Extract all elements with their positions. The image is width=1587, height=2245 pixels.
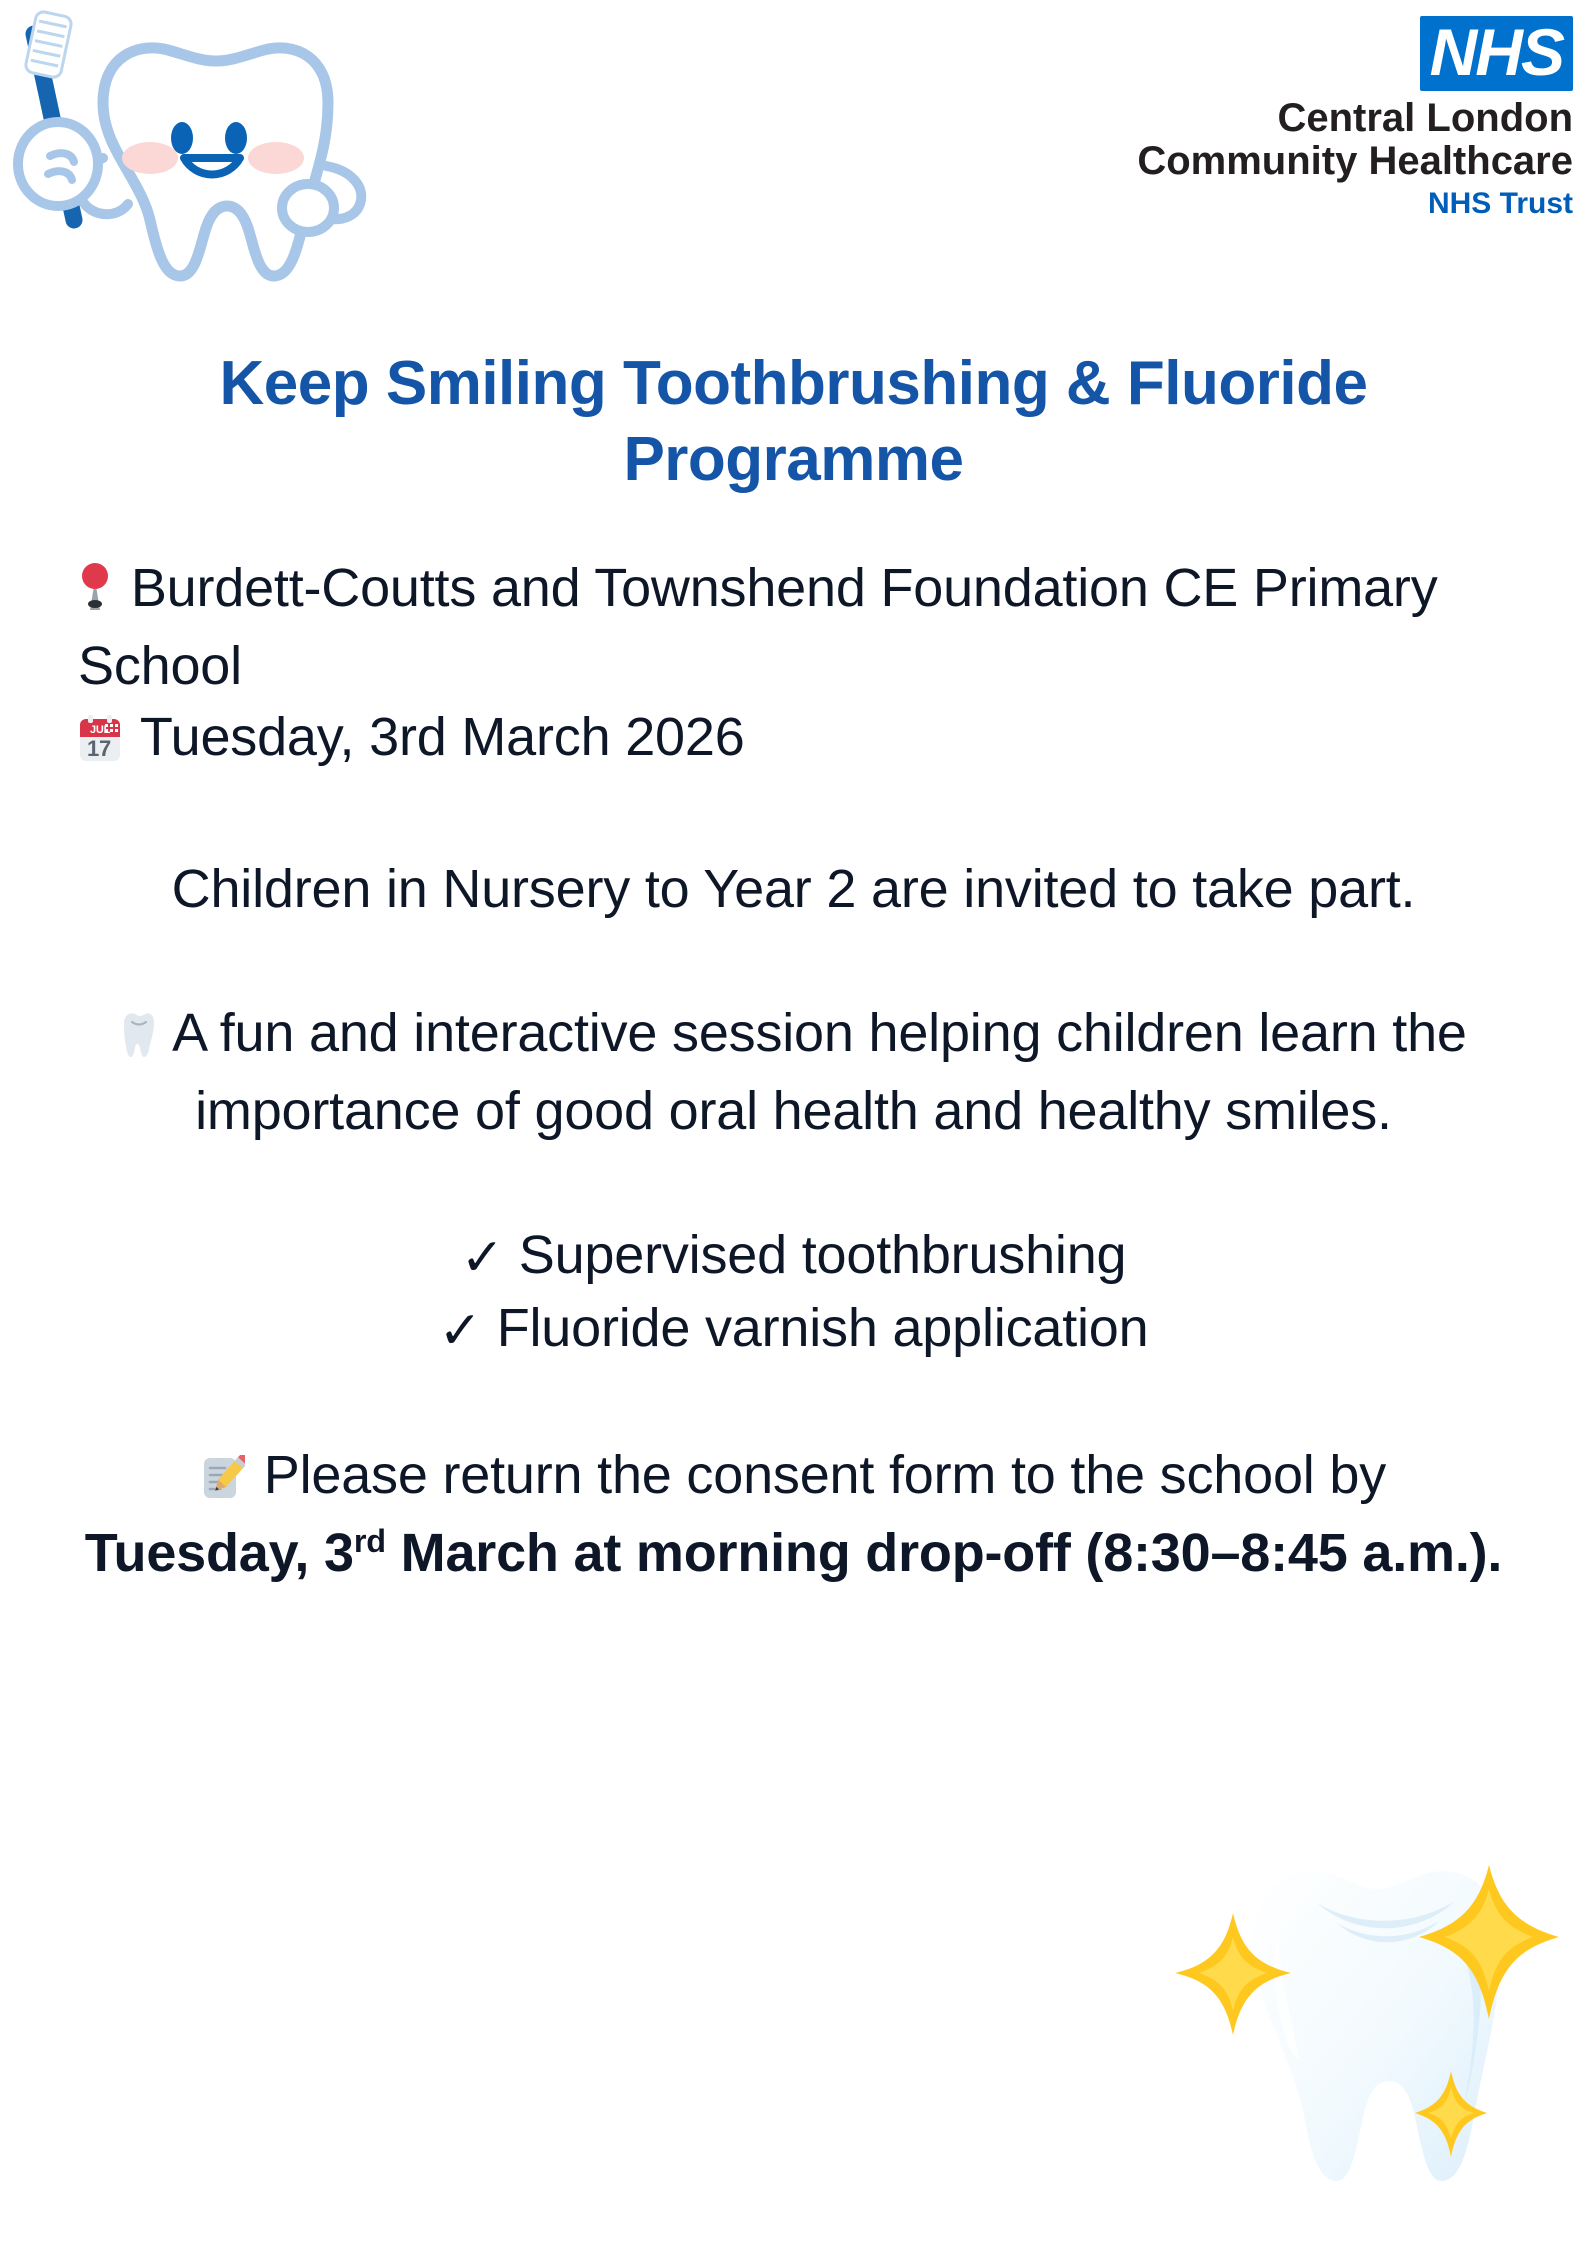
- consent-deadline-post: March at morning drop-off (8:30–8:45 a.m…: [386, 1523, 1502, 1583]
- spacer: [78, 924, 1509, 998]
- benefit-item-2: ✓ Fluoride varnish application: [78, 1293, 1509, 1366]
- nhs-mark-text: NHS: [1430, 20, 1563, 85]
- venue-line: Burdett-Coutts and Townshend Foundation …: [78, 553, 1509, 701]
- consent-deadline-pre: Tuesday, 3: [85, 1523, 354, 1583]
- check-icon: ✓: [461, 1228, 504, 1288]
- sparkling-tooth-icon: [1167, 1845, 1587, 2245]
- nhs-mark: NHS: [1420, 16, 1573, 91]
- spacer: [78, 1366, 1509, 1440]
- date-text: Tuesday, 3rd March 2026: [140, 707, 745, 767]
- venue-block: Burdett-Coutts and Townshend Foundation …: [78, 553, 1509, 780]
- spacer: [78, 780, 1509, 854]
- poster-page: NHS Central London Community Healthcare …: [0, 0, 1587, 2245]
- consent-deadline-line: Tuesday, 3rd March at morning drop-off (…: [78, 1518, 1509, 1588]
- consent-intro-line: Please return the consent form to the sc…: [78, 1440, 1509, 1518]
- benefit-label-1: Supervised toothbrushing: [519, 1225, 1127, 1285]
- tooth-icon: [120, 1006, 156, 1076]
- poster-content: Keep Smiling Toothbrushing & Fluoride Pr…: [0, 346, 1587, 1588]
- benefit-item-1: ✓ Supervised toothbrushing: [78, 1220, 1509, 1293]
- nhs-logo: NHS Central London Community Healthcare …: [1093, 16, 1573, 220]
- svg-text:17: 17: [87, 736, 111, 761]
- consent-intro-text: Please return the consent form to the sc…: [264, 1445, 1386, 1505]
- check-icon: ✓: [439, 1301, 482, 1361]
- invitation-text: Children in Nursery to Year 2 are invite…: [78, 854, 1509, 924]
- memo-icon: [201, 1448, 245, 1518]
- venue-text: Burdett-Coutts and Townshend Foundation …: [78, 558, 1438, 696]
- round-pushpin-icon: [78, 561, 112, 631]
- trust-name-line-2: Community Healthcare: [1093, 140, 1573, 183]
- calendar-icon: JUL 17: [78, 710, 122, 780]
- date-line: JUL 17 Tuesday, 3rd March 2026: [78, 702, 1509, 780]
- description-line: A fun and interactive session helping ch…: [78, 998, 1509, 1146]
- spacer: [78, 1146, 1509, 1220]
- trust-name-line-1: Central London: [1093, 97, 1573, 140]
- ordinal-suffix: rd: [354, 1523, 386, 1559]
- benefit-label-2: Fluoride varnish application: [497, 1298, 1149, 1358]
- smiling-tooth-mascot-icon: [8, 8, 378, 328]
- page-title: Keep Smiling Toothbrushing & Fluoride Pr…: [78, 346, 1509, 497]
- trust-type-label: NHS Trust: [1093, 187, 1573, 220]
- description-text: A fun and interactive session helping ch…: [172, 1003, 1467, 1141]
